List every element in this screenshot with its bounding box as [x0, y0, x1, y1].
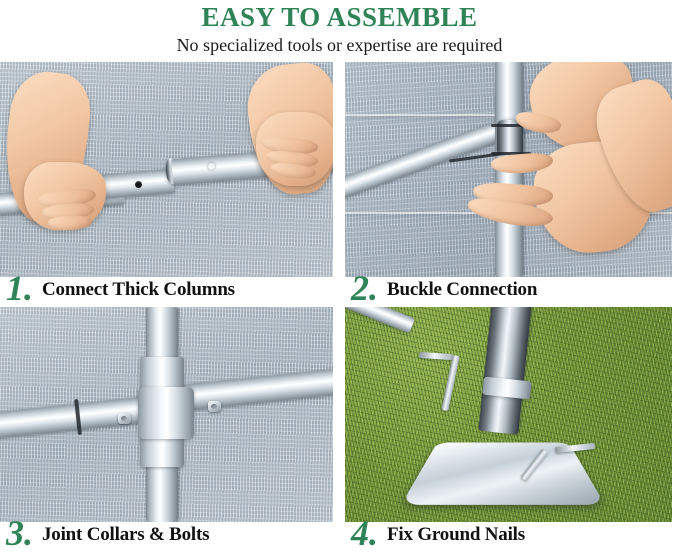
header: EASY TO ASSEMBLE No specialized tools or… — [0, 0, 679, 60]
step-2-caption: 2. Buckle Connection — [345, 268, 678, 305]
step-label: Connect Thick Columns — [42, 277, 235, 305]
step-label: Buckle Connection — [387, 277, 537, 305]
easy-to-assemble-infographic: EASY TO ASSEMBLE No specialized tools or… — [0, 0, 679, 545]
page-title: EASY TO ASSEMBLE — [0, 0, 679, 32]
page-subtitle: No specialized tools or expertise are re… — [0, 32, 679, 56]
step-label: Joint Collars & Bolts — [42, 522, 209, 550]
pole-hole-left — [135, 181, 142, 188]
cross-joint-body — [138, 387, 194, 439]
step-4-caption: 4. Fix Ground Nails — [345, 513, 678, 550]
step-3-photo — [0, 307, 333, 522]
collar-lower — [140, 435, 184, 467]
pole-hole-right — [208, 163, 215, 170]
step-number: 2. — [345, 271, 387, 305]
steps-grid: 1. Connect Thick Columns — [0, 60, 679, 545]
collar-upper — [140, 357, 184, 391]
step-2-photo — [345, 62, 672, 277]
step-number: 1. — [0, 271, 42, 305]
step-card-4: 4. Fix Ground Nails — [345, 307, 678, 550]
bolt-right — [208, 401, 221, 412]
step-card-3: 3. Joint Collars & Bolts — [0, 307, 333, 550]
step-card-1: 1. Connect Thick Columns — [0, 62, 333, 305]
step-card-2: 2. Buckle Connection — [345, 62, 678, 305]
bolt-left — [118, 413, 131, 424]
step-4-photo — [345, 307, 672, 522]
step-1-photo — [0, 62, 333, 277]
step-1-caption: 1. Connect Thick Columns — [0, 268, 333, 305]
step-3-caption: 3. Joint Collars & Bolts — [0, 513, 333, 550]
base-plate — [401, 443, 605, 505]
step-label: Fix Ground Nails — [387, 522, 525, 550]
